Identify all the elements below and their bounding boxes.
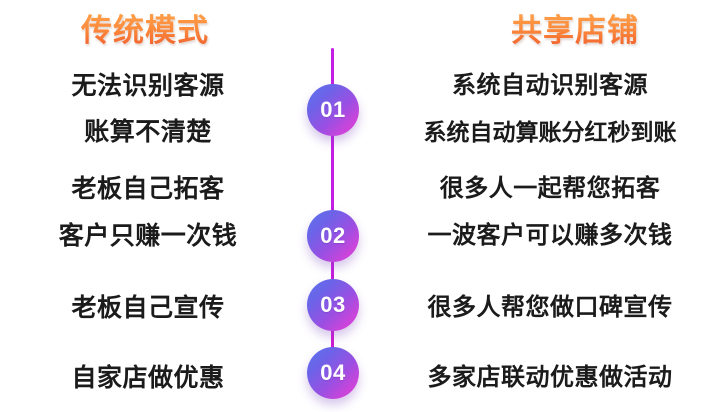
right-list-item: 很多人一起帮您拓客 (380, 174, 720, 204)
left-list-item: 账算不清楚 (0, 117, 296, 147)
left-list-item: 老板自己拓客 (0, 174, 296, 204)
left-list-item: 老板自己宣传 (0, 293, 296, 323)
infographic-canvas: 传统模式 共享店铺 无法识别客源 账算不清楚 老板自己拓客 客户只赚一次钱 老板… (0, 0, 720, 412)
timeline-badge-02: 02 (307, 210, 359, 262)
left-list-item: 自家店做优惠 (0, 363, 296, 393)
left-list-item: 无法识别客源 (0, 71, 296, 101)
timeline-badge-label: 03 (320, 294, 345, 316)
right-column-list: 系统自动识别客源 系统自动算账分红秒到账 很多人一起帮您拓客 一波客户可以赚多次… (380, 0, 720, 412)
timeline-badge-label: 02 (320, 225, 345, 247)
right-list-item: 很多人帮您做口碑宣传 (380, 293, 720, 323)
right-list-item: 多家店联动优惠做活动 (380, 363, 720, 393)
timeline-badge-03: 03 (307, 279, 359, 331)
right-list-item: 系统自动算账分红秒到账 (380, 117, 720, 147)
left-list-item: 客户只赚一次钱 (0, 221, 296, 251)
right-list-item: 一波客户可以赚多次钱 (380, 221, 720, 251)
right-list-item: 系统自动识别客源 (380, 71, 720, 101)
timeline-badge-04: 04 (307, 347, 359, 399)
timeline-badge-label: 01 (320, 99, 345, 121)
timeline-badge-01: 01 (307, 84, 359, 136)
left-column-list: 无法识别客源 账算不清楚 老板自己拓客 客户只赚一次钱 老板自己宣传 自家店做优… (0, 0, 296, 412)
timeline-badge-label: 04 (320, 362, 345, 384)
